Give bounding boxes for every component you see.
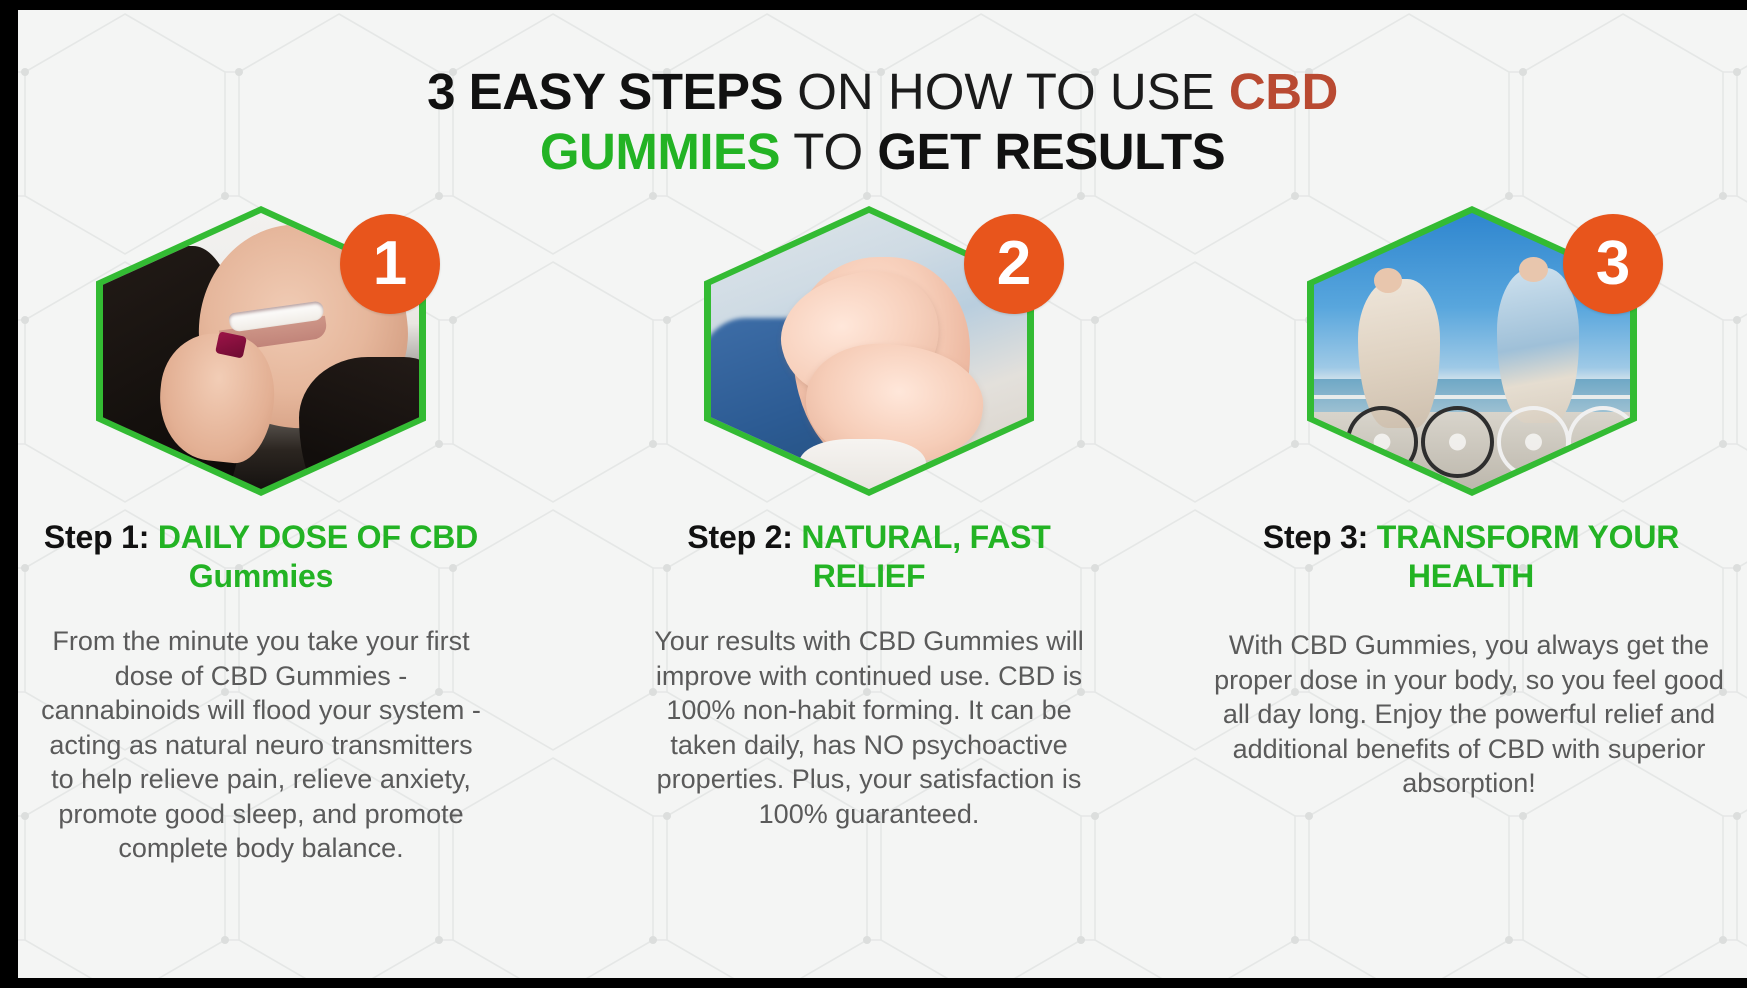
step-2-image-wrap: 2	[704, 206, 1034, 496]
step-1-title-value: DAILY DOSE OF CBD Gummies	[158, 519, 478, 594]
headline-word-get-results: GET RESULTS	[877, 123, 1225, 180]
step-2-body: Your results with CBD Gummies will impro…	[634, 624, 1104, 831]
screenshot-frame: 3 EASY STEPS ON HOW TO USE CBD GUMMIES T…	[0, 0, 1747, 988]
headline-word-to: TO	[780, 123, 877, 180]
step-3-image-wrap: 3	[1307, 206, 1637, 496]
step-1-title: Step 1: DAILY DOSE OF CBD Gummies	[26, 518, 496, 596]
headline-word-on-how-to-use: ON HOW TO USE	[783, 63, 1229, 120]
page-headline: 3 EASY STEPS ON HOW TO USE CBD GUMMIES T…	[18, 62, 1747, 182]
headline-line-2: GUMMIES TO GET RESULTS	[18, 122, 1747, 182]
step-number-badge-2: 2	[964, 214, 1064, 314]
step-1-title-label: Step 1:	[44, 519, 158, 555]
step-number-badge-1: 1	[340, 214, 440, 314]
promo-section: 3 EASY STEPS ON HOW TO USE CBD GUMMIES T…	[18, 10, 1747, 978]
step-number-badge-3: 3	[1563, 214, 1663, 314]
step-card-1: 1 Step 1: DAILY DOSE OF CBD Gummies From…	[26, 206, 496, 866]
headline-line-1: 3 EASY STEPS ON HOW TO USE CBD	[18, 62, 1747, 122]
headline-word-gummies: GUMMIES	[540, 123, 780, 180]
step-1-body: From the minute you take your first dose…	[26, 624, 496, 866]
step-3-title: Step 3: TRANSFORM YOUR HEALTH	[1251, 518, 1691, 596]
step-3-title-label: Step 3:	[1263, 519, 1377, 555]
step-2-title-value: NATURAL, FAST RELIEF	[801, 519, 1050, 594]
step-3-title-value: TRANSFORM YOUR HEALTH	[1377, 519, 1679, 594]
step-1-image-wrap: 1	[96, 206, 426, 496]
step-3-body: With CBD Gummies, you always get the pro…	[1189, 628, 1747, 801]
headline-word-easy-steps: 3 EASY STEPS	[427, 63, 783, 120]
headline-word-cbd: CBD	[1229, 63, 1338, 120]
step-card-2: 2 Step 2: NATURAL, FAST RELIEF Your resu…	[634, 206, 1104, 831]
step-2-title-label: Step 2:	[687, 519, 801, 555]
steps-container: 1 Step 1: DAILY DOSE OF CBD Gummies From…	[18, 206, 1747, 978]
step-2-title: Step 2: NATURAL, FAST RELIEF	[634, 518, 1104, 596]
step-card-3: 3 Step 3: TRANSFORM YOUR HEALTH With CBD…	[1237, 206, 1707, 801]
